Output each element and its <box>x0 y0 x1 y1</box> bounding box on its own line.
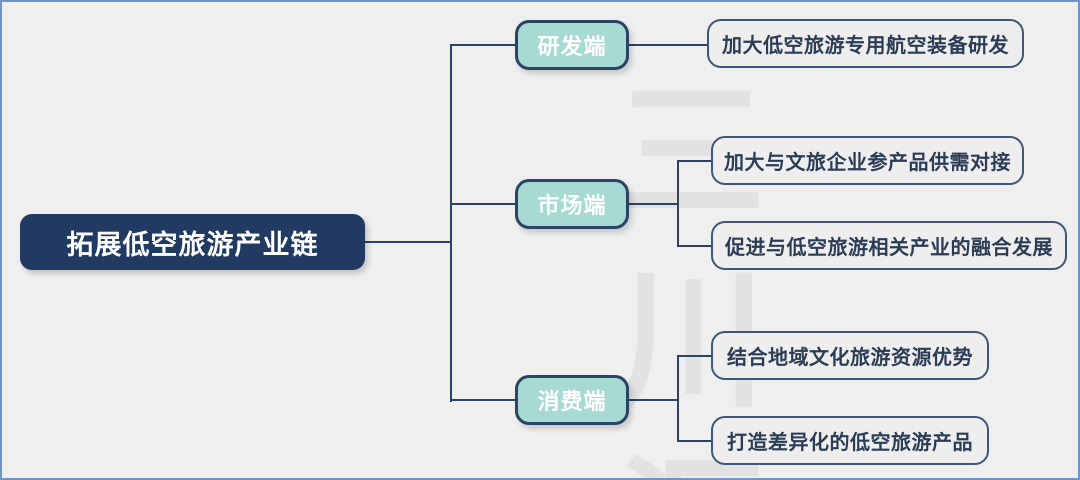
branch-node-rnd[interactable]: 研发端 <box>515 20 629 70</box>
leaf-node-market-2[interactable]: 促进与低空旅游相关产业的融合发展 <box>711 221 1067 270</box>
connector-branch-2-stem <box>629 203 679 205</box>
connector-branch-3-to-leaf-2 <box>677 440 712 442</box>
branch-node-rnd-label: 研发端 <box>537 29 606 61</box>
branch-node-market[interactable]: 市场端 <box>515 179 629 229</box>
leaf-node-consumer-1-label: 结合地域文化旅游资源优势 <box>727 341 973 370</box>
connector-trunk <box>450 45 452 402</box>
connector-trunk-to-branch-1 <box>450 44 515 46</box>
mindmap-canvas: 三 川 汇 拓展低空旅游产业链 研发端 加大低空旅游专用航空装备研发 市场端 加… <box>0 0 1080 480</box>
leaf-node-consumer-2-label: 打造差异化的低空旅游产品 <box>727 426 973 455</box>
connector-trunk-to-branch-3 <box>450 399 515 401</box>
leaf-node-market-1-label: 加大与文旅企业参产品供需对接 <box>724 146 1011 175</box>
branch-node-consumer-label: 消费端 <box>537 384 606 416</box>
connector-branch-3-spine <box>677 356 679 442</box>
connector-branch-3-to-leaf-1 <box>677 355 712 357</box>
leaf-node-rnd-1-label: 加大低空旅游专用航空装备研发 <box>722 29 1009 58</box>
root-node-label: 拓展低空旅游产业链 <box>67 223 319 262</box>
connector-branch-2-to-leaf-2 <box>677 245 712 247</box>
branch-node-market-label: 市场端 <box>537 188 606 220</box>
connector-trunk-to-branch-2 <box>450 203 515 205</box>
branch-node-consumer[interactable]: 消费端 <box>515 375 629 425</box>
connector-branch-1-to-leaf-1 <box>629 44 708 46</box>
leaf-node-consumer-1[interactable]: 结合地域文化旅游资源优势 <box>711 331 989 380</box>
connector-branch-3-stem <box>629 399 679 401</box>
root-node[interactable]: 拓展低空旅游产业链 <box>20 214 365 270</box>
leaf-node-rnd-1[interactable]: 加大低空旅游专用航空装备研发 <box>707 19 1024 68</box>
leaf-node-market-1[interactable]: 加大与文旅企业参产品供需对接 <box>711 136 1024 185</box>
leaf-node-market-2-label: 促进与低空旅游相关产业的融合发展 <box>725 231 1053 260</box>
connector-branch-2-spine <box>677 161 679 247</box>
connector-root-stem <box>363 241 452 243</box>
connector-branch-2-to-leaf-1 <box>677 160 712 162</box>
leaf-node-consumer-2[interactable]: 打造差异化的低空旅游产品 <box>711 416 989 465</box>
